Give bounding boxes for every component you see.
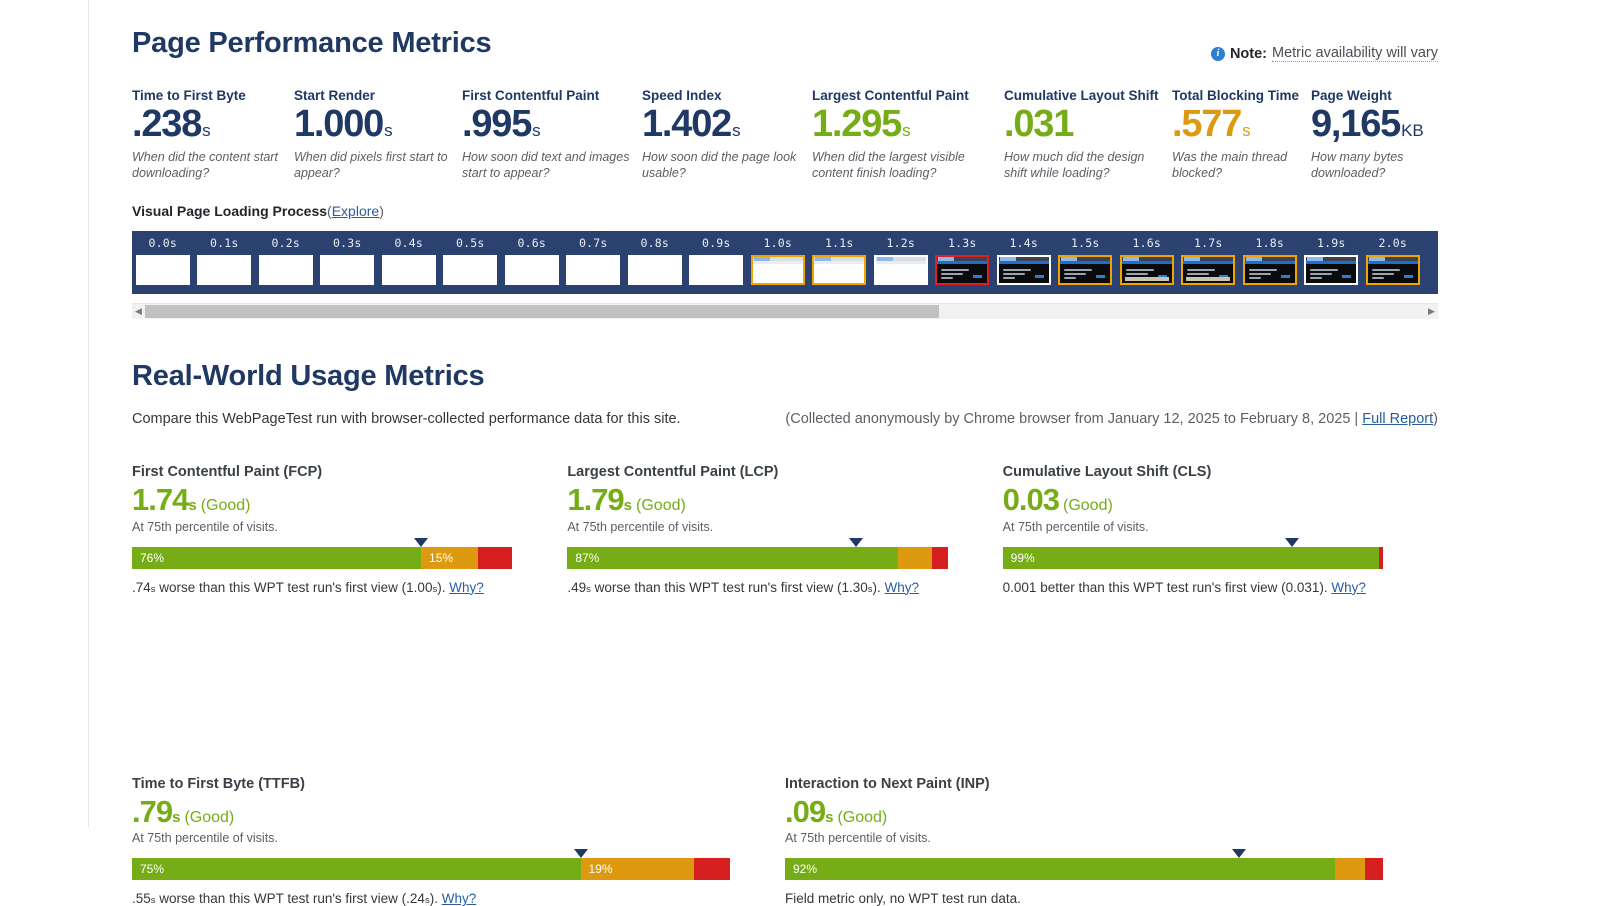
cwv-rating: (Good) — [1063, 497, 1113, 514]
cwv-comparison-text: .49s worse than this WPT test run's firs… — [567, 580, 947, 595]
filmstrip-frame[interactable]: 1.4s — [993, 231, 1055, 285]
frame-timestamp: 1.9s — [1301, 236, 1363, 250]
metric-card: First Contentful Paint.995sHow soon did … — [462, 88, 642, 181]
frame-screenshot — [1183, 257, 1233, 283]
cwv-card-title: First Contentful Paint (FCP) — [132, 464, 512, 480]
cwv-bar-segment: 87% — [567, 547, 898, 569]
filmstrip-label-text: Visual Page Loading Process — [132, 203, 327, 219]
filmstrip-frame[interactable]: 0.0s — [132, 231, 194, 285]
frame-thumbnail[interactable] — [1058, 255, 1112, 285]
cwv-distribution-bar: 87% — [567, 547, 947, 569]
why-link[interactable]: Why? — [449, 580, 484, 595]
frame-thumbnail[interactable] — [689, 255, 743, 285]
frame-timestamp: 0.0s — [132, 236, 194, 250]
metric-description: When did the content start downloading? — [132, 149, 282, 181]
metric-value: .031 — [1004, 105, 1160, 144]
metric-unit: s — [532, 121, 541, 140]
frame-thumbnail[interactable] — [935, 255, 989, 285]
info-icon: i — [1211, 47, 1225, 61]
metric-value: 1.402s — [642, 105, 800, 144]
cwv-card-value: .79s(Good) — [132, 795, 730, 830]
filmstrip-frame[interactable]: 2.0s — [1362, 231, 1424, 285]
frame-screenshot — [876, 257, 926, 283]
note-label: Note: — [1230, 46, 1267, 62]
scroll-left-arrow[interactable]: ◀ — [132, 304, 145, 319]
cwv-delta-text: worse than this WPT test run's first vie… — [591, 580, 868, 595]
frame-thumbnail[interactable] — [443, 255, 497, 285]
frame-thumbnail[interactable] — [320, 255, 374, 285]
frame-timestamp: 1.3s — [932, 236, 994, 250]
cwv-segment-label: 75% — [132, 862, 164, 876]
frame-timestamp: 0.6s — [501, 236, 563, 250]
cwv-percentile-note: At 75th percentile of visits. — [132, 831, 730, 845]
frame-thumbnail[interactable] — [751, 255, 805, 285]
filmstrip-frame[interactable]: 0.7s — [563, 231, 625, 285]
metric-unit: s — [902, 121, 911, 140]
cwv-number: .09 — [785, 794, 825, 829]
metric-unit: s — [384, 121, 393, 140]
filmstrip-frame[interactable]: 1.0s — [747, 231, 809, 285]
cwv-card-value: 1.79s(Good) — [567, 483, 947, 518]
cwv-unit: s — [624, 497, 632, 514]
cwv-number: 1.79 — [567, 482, 623, 517]
metric-card: Speed Index1.402sHow soon did the page l… — [642, 88, 812, 181]
cwv-distribution-wrap: 87% — [567, 547, 947, 569]
metric-name: Speed Index — [642, 88, 800, 103]
cwv-segment-label: 92% — [785, 862, 817, 876]
cwv-delta-tail: ). — [1319, 580, 1327, 595]
cwv-percentile-marker — [1232, 849, 1246, 858]
filmstrip-frame[interactable]: 1.3s — [932, 231, 994, 285]
left-divider — [88, 0, 89, 827]
frame-timestamp: 2.0s — [1362, 236, 1424, 250]
frame-timestamp: 1.4s — [993, 236, 1055, 250]
frame-thumbnail[interactable] — [505, 255, 559, 285]
cwv-delta-value: 0.001 — [1003, 580, 1037, 595]
filmstrip-scrollbar[interactable]: ◀ ▶ — [132, 303, 1438, 319]
cwv-delta-text: better than this WPT test run's first vi… — [1036, 580, 1319, 595]
visual-loading-process-label: Visual Page Loading Process(Explore) — [132, 203, 384, 219]
frame-timestamp: 1.0s — [747, 236, 809, 250]
cwv-rating: (Good) — [837, 809, 887, 826]
filmstrip-frame[interactable]: 1.7s — [1178, 231, 1240, 285]
metric-unit: s — [1242, 121, 1251, 140]
full-report-link[interactable]: Full Report — [1362, 411, 1433, 427]
metric-description: Was the main thread blocked? — [1172, 149, 1299, 181]
note-text: Metric availability will vary — [1272, 45, 1438, 62]
cwv-distribution-wrap: 75%19% — [132, 858, 730, 880]
cwv-bar-segment — [1365, 858, 1383, 880]
cwv-card-title: Time to First Byte (TTFB) — [132, 776, 730, 792]
metric-number: 1.000 — [294, 103, 383, 145]
cwv-percentile-marker — [414, 538, 428, 547]
metric-number: 9,165 — [1311, 103, 1400, 145]
cwv-delta-value: .74 — [132, 580, 151, 595]
cwv-delta-tail: ). — [437, 580, 445, 595]
frame-timestamp: 0.5s — [440, 236, 502, 250]
cwv-segment-label: 19% — [581, 862, 613, 876]
frame-screenshot — [1060, 257, 1110, 283]
cwv-distribution-bar: 99% — [1003, 547, 1383, 569]
scroll-right-arrow[interactable]: ▶ — [1425, 304, 1438, 319]
filmstrip-frame[interactable]: 1.5s — [1055, 231, 1117, 285]
frame-thumbnail[interactable] — [1243, 255, 1297, 285]
cwv-delta-value: .49 — [567, 580, 586, 595]
cwv-card: Largest Contentful Paint (LCP)1.79s(Good… — [567, 464, 1002, 595]
cwv-segment-label: 15% — [421, 551, 453, 565]
frame-thumbnail[interactable] — [1304, 255, 1358, 285]
why-link[interactable]: Why? — [885, 580, 920, 595]
metric-description: How soon did text and images start to ap… — [462, 149, 630, 181]
metric-name: Page Weight — [1311, 88, 1426, 103]
cwv-comparison-text: .55s worse than this WPT test run's firs… — [132, 891, 730, 906]
cwv-bar-segment: 99% — [1003, 547, 1380, 569]
cwv-percentile-marker — [574, 849, 588, 858]
why-link[interactable]: Why? — [442, 891, 477, 906]
filmstrip-frame[interactable]: 0.3s — [317, 231, 379, 285]
metric-unit: s — [732, 121, 741, 140]
metric-card: Start Render1.000sWhen did pixels first … — [294, 88, 462, 181]
cwv-bar-segment — [898, 547, 932, 569]
frame-screenshot — [1368, 257, 1418, 283]
metric-unit: KB — [1401, 121, 1424, 140]
cwv-row-secondary: Time to First Byte (TTFB).79s(Good)At 75… — [132, 776, 1438, 906]
cwv-percentile-note: At 75th percentile of visits. — [132, 520, 512, 534]
core-web-vitals-grid: First Contentful Paint (FCP)1.74s(Good)A… — [132, 464, 1438, 906]
frame-timestamp: 0.9s — [686, 236, 748, 250]
frame-timestamp: 1.1s — [809, 236, 871, 250]
metric-value: 1.295s — [812, 105, 992, 144]
metric-number: 1.402 — [642, 103, 731, 145]
cwv-delta-tail: ). — [430, 891, 438, 906]
cwv-card-title: Cumulative Layout Shift (CLS) — [1003, 464, 1383, 480]
cwv-distribution-bar: 76%15% — [132, 547, 512, 569]
metric-number: .577 — [1172, 103, 1241, 145]
filmstrip-frame[interactable]: 0.9s — [686, 231, 748, 285]
frame-thumbnail[interactable] — [874, 255, 928, 285]
frame-thumbnail[interactable] — [136, 255, 190, 285]
frame-screenshot — [1306, 257, 1356, 283]
filmstrip-frame[interactable]: 1.9s — [1301, 231, 1363, 285]
cwv-distribution-wrap: 99% — [1003, 547, 1383, 569]
why-link[interactable]: Why? — [1331, 580, 1366, 595]
scrollbar-track[interactable] — [145, 304, 1425, 319]
frame-thumbnail[interactable] — [382, 255, 436, 285]
frame-screenshot — [937, 257, 987, 283]
frame-timestamp: 0.7s — [563, 236, 625, 250]
metric-unit: s — [202, 121, 211, 140]
cwv-percentile-note: At 75th percentile of visits. — [1003, 520, 1383, 534]
metric-name: Start Render — [294, 88, 450, 103]
cwv-percentile-note: At 75th percentile of visits. — [785, 831, 1383, 845]
results-page: Page Performance Metrics i Note: Metric … — [0, 0, 1600, 827]
cwv-comparison-text: Field metric only, no WPT test run data. — [785, 891, 1383, 906]
cwv-distribution-wrap: 92% — [785, 858, 1383, 880]
collected-suffix: ) — [1433, 411, 1438, 427]
metric-card: Page Weight9,165KBHow many bytes downloa… — [1311, 88, 1438, 181]
cwv-bar-segment — [1379, 547, 1383, 569]
filmstrip-frame[interactable]: 1.2s — [870, 231, 932, 285]
metric-name: Total Blocking Time — [1172, 88, 1299, 103]
collected-info: (Collected anonymously by Chrome browser… — [785, 411, 1438, 427]
frame-thumbnail[interactable] — [812, 255, 866, 285]
cwv-bar-segment: 92% — [785, 858, 1335, 880]
metric-description: How soon did the page look usable? — [642, 149, 800, 181]
filmstrip[interactable]: 0.0s0.1s0.2s0.3s0.4s0.5s0.6s0.7s0.8s0.9s… — [132, 231, 1438, 294]
metric-value: .577s — [1172, 105, 1299, 144]
cwv-delta-text: worse than this WPT test run's first vie… — [156, 891, 425, 906]
metric-value: 9,165KB — [1311, 105, 1426, 144]
cwv-rating: (Good) — [184, 809, 234, 826]
explore-link[interactable]: Explore — [332, 203, 379, 219]
cwv-bar-segment — [478, 547, 512, 569]
page-performance-metrics-title: Page Performance Metrics — [132, 27, 491, 60]
frame-thumbnail[interactable] — [997, 255, 1051, 285]
frame-thumbnail[interactable] — [1181, 255, 1235, 285]
cwv-delta-text: worse than this WPT test run's first vie… — [156, 580, 433, 595]
frame-timestamp: 0.4s — [378, 236, 440, 250]
frame-timestamp: 0.2s — [255, 236, 317, 250]
cwv-card-title: Largest Contentful Paint (LCP) — [567, 464, 947, 480]
real-world-usage-metrics-title: Real-World Usage Metrics — [132, 360, 484, 393]
metric-availability-note: i Note: Metric availability will vary — [1211, 45, 1438, 62]
cwv-card: Time to First Byte (TTFB).79s(Good)At 75… — [132, 776, 785, 906]
cwv-card-value: 1.74s(Good) — [132, 483, 512, 518]
cwv-rating: (Good) — [201, 497, 251, 514]
cwv-percentile-marker — [1285, 538, 1299, 547]
cwv-segment-label: 87% — [567, 551, 599, 565]
cwv-comparison-text: .74s worse than this WPT test run's firs… — [132, 580, 512, 595]
cwv-delta-value: .55 — [132, 891, 151, 906]
cwv-bar-segment: 19% — [581, 858, 695, 880]
cwv-unit: s — [188, 497, 196, 514]
cwv-bar-segment: 76% — [132, 547, 421, 569]
cwv-number: 1.74 — [132, 482, 188, 517]
cwv-card-value: 0.03(Good) — [1003, 483, 1383, 518]
cwv-percentile-note: At 75th percentile of visits. — [567, 520, 947, 534]
filmstrip-frame[interactable]: 1.6s — [1116, 231, 1178, 285]
cwv-number: 0.03 — [1003, 482, 1059, 517]
filmstrip-frame[interactable]: 0.8s — [624, 231, 686, 285]
frame-timestamp: 1.7s — [1178, 236, 1240, 250]
frame-screenshot — [753, 257, 803, 283]
cwv-segment-label: 76% — [132, 551, 164, 565]
filmstrip-frame[interactable]: 0.6s — [501, 231, 563, 285]
cwv-unit: s — [825, 809, 833, 826]
frame-timestamp: 1.6s — [1116, 236, 1178, 250]
paren-close: ) — [379, 203, 384, 219]
metric-card: Total Blocking Time.577sWas the main thr… — [1172, 88, 1311, 181]
frame-thumbnail[interactable] — [259, 255, 313, 285]
filmstrip-frame[interactable]: 1.1s — [809, 231, 871, 285]
frame-thumbnail[interactable] — [566, 255, 620, 285]
cwv-distribution-bar: 75%19% — [132, 858, 730, 880]
metric-description: How much did the design shift while load… — [1004, 149, 1160, 181]
frame-thumbnail[interactable] — [197, 255, 251, 285]
collected-prefix: (Collected anonymously by Chrome browser… — [785, 411, 1362, 427]
filmstrip-frame[interactable]: 0.4s — [378, 231, 440, 285]
metric-number: .238 — [132, 103, 201, 145]
frame-timestamp: 1.5s — [1055, 236, 1117, 250]
cwv-bar-segment: 15% — [421, 547, 478, 569]
filmstrip-frame[interactable]: 1.8s — [1239, 231, 1301, 285]
metric-name: First Contentful Paint — [462, 88, 630, 103]
performance-metrics-row: Time to First Byte.238sWhen did the cont… — [132, 88, 1438, 181]
cwv-unit: s — [172, 809, 180, 826]
cwv-number: .79 — [132, 794, 172, 829]
cwv-row-primary: First Contentful Paint (FCP)1.74s(Good)A… — [132, 464, 1438, 595]
frame-thumbnail[interactable] — [1366, 255, 1420, 285]
metric-value: 1.000s — [294, 105, 450, 144]
metric-description: When did pixels first start to appear? — [294, 149, 450, 181]
cwv-distribution-bar: 92% — [785, 858, 1383, 880]
metric-name: Time to First Byte — [132, 88, 282, 103]
filmstrip-frame[interactable]: 0.2s — [255, 231, 317, 285]
metric-card: Cumulative Layout Shift.031How much did … — [1004, 88, 1172, 181]
frame-timestamp: 0.8s — [624, 236, 686, 250]
frame-timestamp: 1.2s — [870, 236, 932, 250]
metric-description: How many bytes downloaded? — [1311, 149, 1426, 181]
frame-screenshot — [1122, 257, 1172, 283]
cwv-card: Cumulative Layout Shift (CLS)0.03(Good)A… — [1003, 464, 1438, 595]
cwv-delta-tail: ). — [873, 580, 881, 595]
cwv-bar-segment: 75% — [132, 858, 581, 880]
frame-screenshot — [1245, 257, 1295, 283]
scrollbar-thumb[interactable] — [145, 305, 939, 318]
cwv-comparison-text: 0.001 better than this WPT test run's fi… — [1003, 580, 1383, 595]
filmstrip-frame[interactable]: 0.1s — [194, 231, 256, 285]
cwv-bar-segment — [932, 547, 947, 569]
cwv-bar-segment — [694, 858, 730, 880]
metric-name: Cumulative Layout Shift — [1004, 88, 1160, 103]
metric-number: .995 — [462, 103, 531, 145]
cwv-segment-label: 99% — [1003, 551, 1035, 565]
metric-value: .238s — [132, 105, 282, 144]
metric-card: Time to First Byte.238sWhen did the cont… — [132, 88, 294, 181]
frame-timestamp: 0.3s — [317, 236, 379, 250]
metric-name: Largest Contentful Paint — [812, 88, 992, 103]
frame-screenshot — [814, 257, 864, 283]
cwv-card-title: Interaction to Next Paint (INP) — [785, 776, 1383, 792]
compare-description: Compare this WebPageTest run with browse… — [132, 411, 681, 427]
frame-timestamp: 1.8s — [1239, 236, 1301, 250]
frame-thumbnail[interactable] — [628, 255, 682, 285]
cwv-distribution-wrap: 76%15% — [132, 547, 512, 569]
metric-value: .995s — [462, 105, 630, 144]
frame-screenshot — [999, 257, 1049, 283]
cwv-bar-segment — [1335, 858, 1365, 880]
frame-timestamp: 0.1s — [194, 236, 256, 250]
cwv-percentile-marker — [849, 538, 863, 547]
metric-number: .031 — [1004, 103, 1073, 145]
cwv-card: Interaction to Next Paint (INP).09s(Good… — [785, 776, 1438, 906]
metric-number: 1.295 — [812, 103, 901, 145]
cwv-card: First Contentful Paint (FCP)1.74s(Good)A… — [132, 464, 567, 595]
filmstrip-frame[interactable]: 0.5s — [440, 231, 502, 285]
metric-description: When did the largest visible content fin… — [812, 149, 992, 181]
cwv-rating: (Good) — [636, 497, 686, 514]
cwv-card-value: .09s(Good) — [785, 795, 1383, 830]
frame-thumbnail[interactable] — [1120, 255, 1174, 285]
metric-card: Largest Contentful Paint1.295sWhen did t… — [812, 88, 1004, 181]
